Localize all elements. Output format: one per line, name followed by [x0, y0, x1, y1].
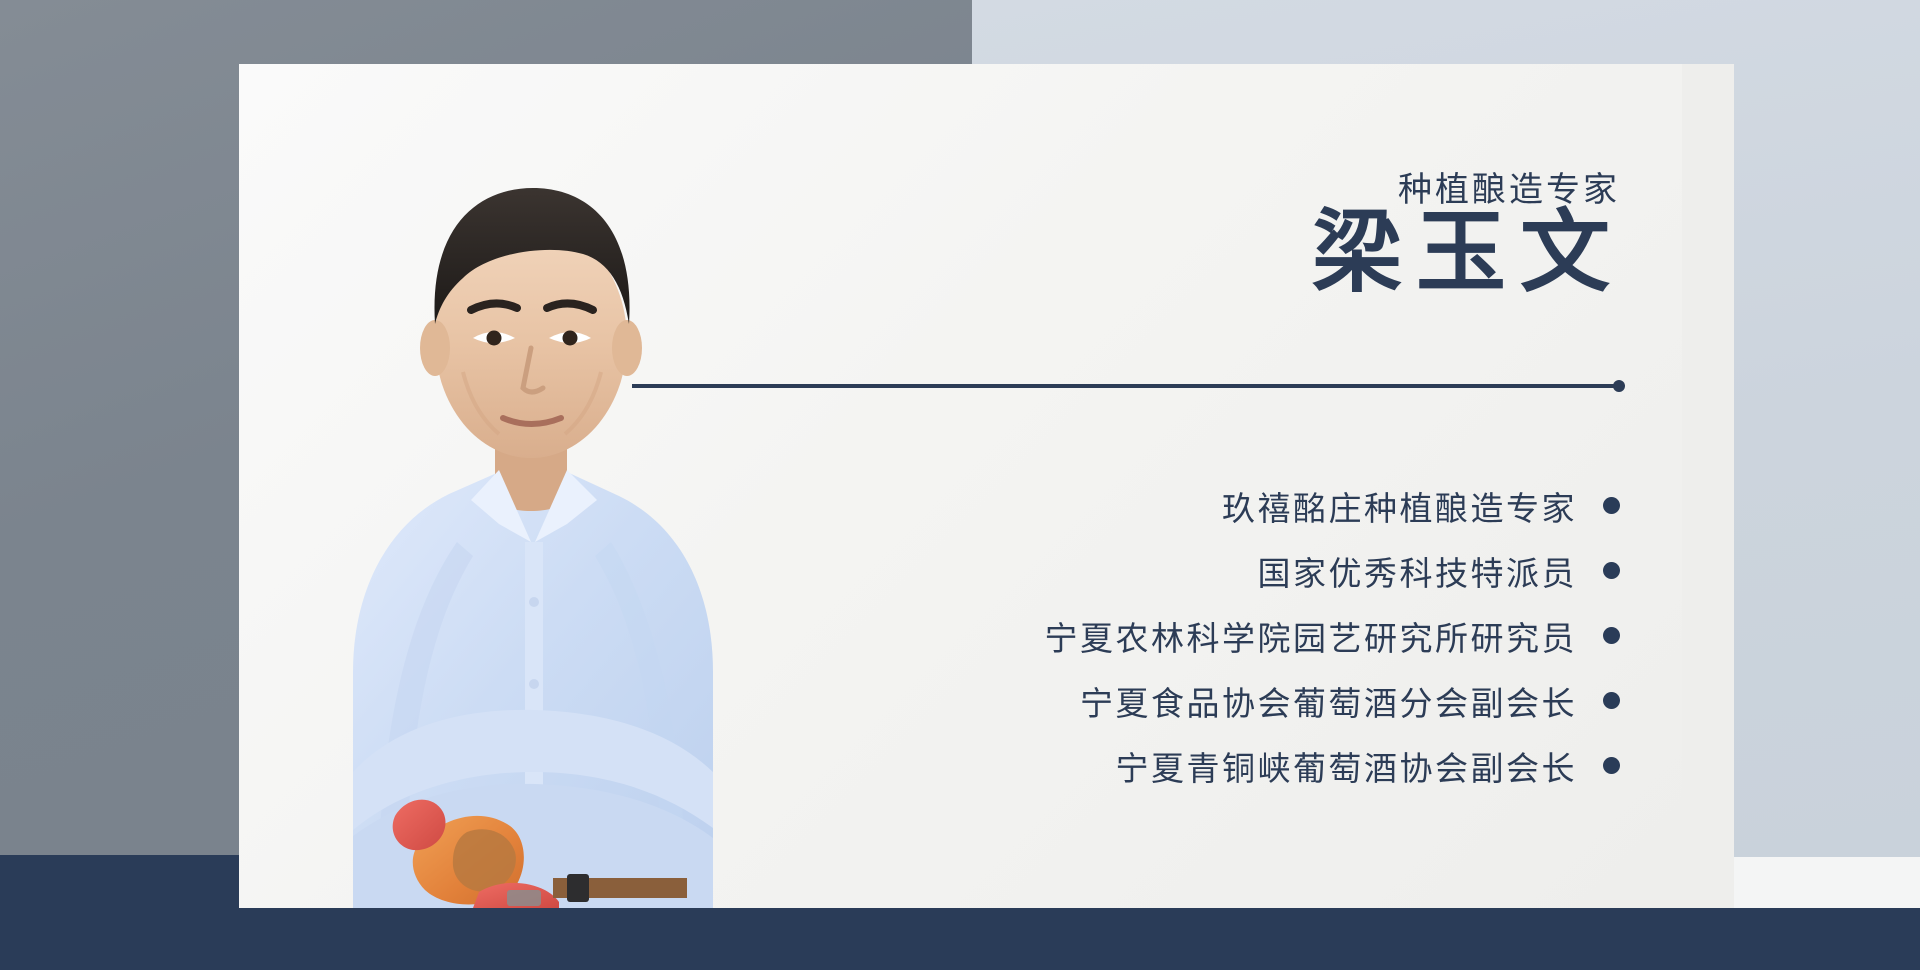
list-item: 玖禧酩庄种植酿造专家	[660, 479, 1620, 532]
background-light-strip	[1682, 64, 1734, 908]
credentials-list: 玖禧酩庄种植酿造专家 国家优秀科技特派员 宁夏农林科学院园艺研究所研究员 宁夏食…	[660, 479, 1620, 804]
bullet-dot-icon	[1603, 692, 1620, 709]
profile-card: 种植酿造专家 梁玉文 玖禧酩庄种植酿造专家 国家优秀科技特派员 宁夏农林科学院园…	[239, 64, 1682, 908]
credential-text: 宁夏青铜峡葡萄酒协会副会长	[1116, 742, 1578, 790]
divider-end-dot-icon	[1613, 380, 1625, 392]
list-item: 国家优秀科技特派员	[660, 544, 1620, 597]
bullet-dot-icon	[1603, 627, 1620, 644]
bullet-dot-icon	[1603, 562, 1620, 579]
person-name: 梁玉文	[1312, 204, 1624, 303]
poster-canvas: 种植酿造专家 梁玉文 玖禧酩庄种植酿造专家 国家优秀科技特派员 宁夏农林科学院园…	[0, 0, 1920, 970]
bullet-dot-icon	[1603, 757, 1620, 774]
horizontal-divider	[632, 384, 1620, 388]
background-navy-band-right	[1730, 908, 1920, 970]
list-item: 宁夏农林科学院园艺研究所研究员	[660, 609, 1620, 662]
profile-content: 种植酿造专家 梁玉文 玖禧酩庄种植酿造专家 国家优秀科技特派员 宁夏农林科学院园…	[660, 64, 1620, 908]
credential-text: 宁夏食品协会葡萄酒分会副会长	[1080, 677, 1577, 725]
list-item: 宁夏食品协会葡萄酒分会副会长	[660, 674, 1620, 727]
credential-text: 宁夏农林科学院园艺研究所研究员	[1045, 612, 1578, 660]
credential-text: 玖禧酩庄种植酿造专家	[1222, 482, 1577, 530]
list-item: 宁夏青铜峡葡萄酒协会副会长	[660, 739, 1620, 792]
credential-text: 国家优秀科技特派员	[1258, 547, 1578, 595]
bullet-dot-icon	[1603, 497, 1620, 514]
